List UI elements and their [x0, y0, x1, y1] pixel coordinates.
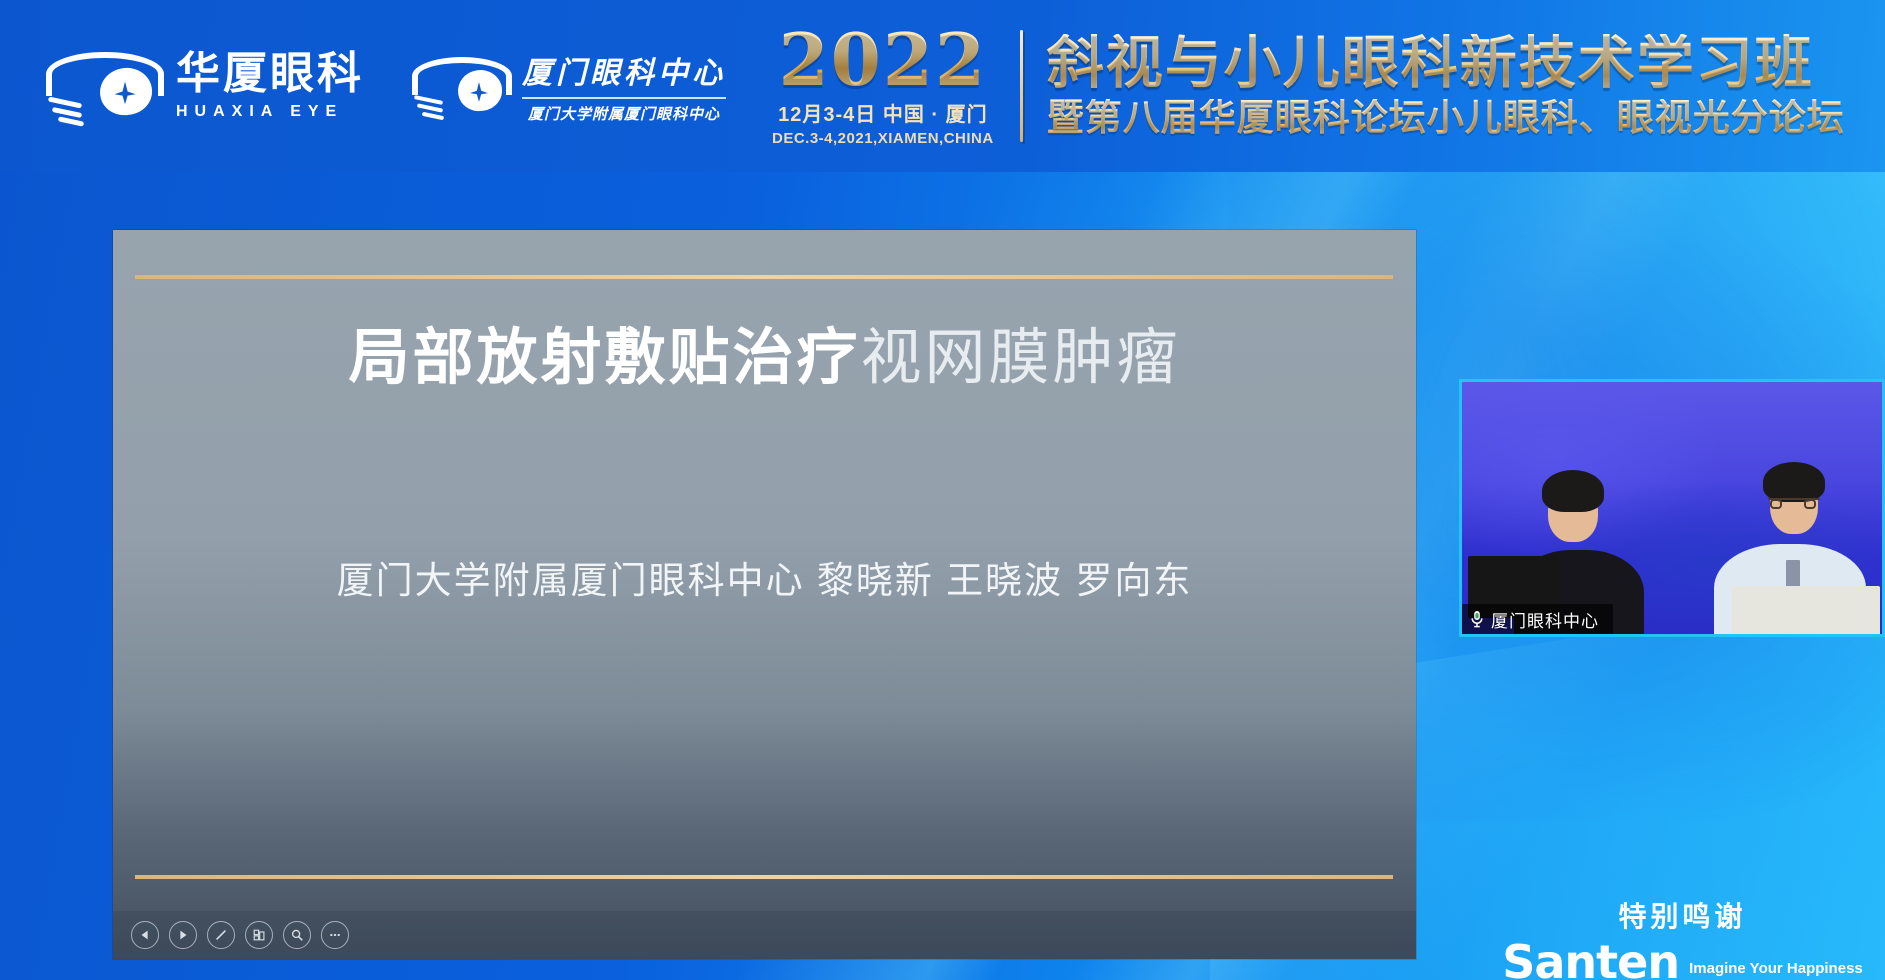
- participant-video-panel[interactable]: 厦门眼科中心: [1459, 379, 1885, 637]
- sponsor-thanks-text: 特别鸣谢: [1480, 895, 1885, 935]
- triangle-left-icon: [138, 928, 152, 942]
- layout-grid-icon: [252, 928, 266, 942]
- xmec-name-sub: 厦门大学附属厦门眼科中心: [522, 103, 726, 124]
- conference-title: 斜视与小儿眼科新技术学习班: [1047, 34, 1845, 93]
- conference-year: 2022: [772, 25, 994, 94]
- xmec-divider: [522, 97, 726, 99]
- glasses-icon: [1768, 498, 1820, 500]
- slide-title-highlight: 局部放射敷贴治疗: [348, 323, 860, 391]
- conference-year-block: 2022 12月3-4日 中国 · 厦门 DEC.3-4,2021,XIAMEN…: [772, 25, 994, 146]
- pen-icon: [214, 928, 228, 942]
- xiamen-eye-center-logo: 厦门眼科中心 厦门大学附属厦门眼科中心: [390, 48, 726, 124]
- broadcast-stage: 华厦眼科 HUAXIA EYE 厦门眼科中心 厦门大学附属厦门眼科中心 2022: [0, 0, 1885, 980]
- conference-date-cn: 12月3-4日 中国 · 厦门: [772, 98, 994, 127]
- presentation-slide[interactable]: 局部放射敷贴治疗视网膜肿瘤 厦门大学附属厦门眼科中心 黎晓新 王晓波 罗向东: [113, 230, 1416, 959]
- ellipsis-icon: [328, 928, 342, 942]
- sponsor-tagline: Imagine Your Happiness: [1689, 960, 1863, 980]
- participant-name-text: 厦门眼科中心: [1491, 607, 1599, 632]
- layout-button[interactable]: [245, 921, 273, 949]
- header-vertical-divider: [1020, 30, 1023, 142]
- slide-subtitle: 厦门大学附属厦门眼科中心 黎晓新 王晓波 罗向东: [113, 550, 1416, 604]
- triangle-right-icon: [176, 928, 190, 942]
- slide-rule-top: [135, 275, 1393, 279]
- huaxia-eye-wordmark: 华厦眼科 HUAXIA EYE: [176, 51, 364, 121]
- huaxia-eye-logo: 华厦眼科 HUAXIA EYE: [0, 48, 364, 124]
- sponsor-logo: Santen Imagine Your Happiness: [1480, 941, 1885, 980]
- huaxia-eye-name-cn: 华厦眼科: [176, 51, 364, 97]
- sponsor-block: 特别鸣谢 Santen Imagine Your Happiness: [1480, 895, 1885, 980]
- eye-logo-icon: [412, 53, 512, 119]
- previous-slide-button[interactable]: [131, 921, 159, 949]
- conference-subtitle: 暨第八届华厦眼科论坛小儿眼科、眼视光分论坛: [1047, 99, 1845, 138]
- magnifier-icon: [290, 928, 304, 942]
- zoom-button[interactable]: [283, 921, 311, 949]
- slide-title-normal: 视网膜肿瘤: [861, 323, 1181, 391]
- annotate-button[interactable]: [207, 921, 235, 949]
- slide-title: 局部放射敷贴治疗视网膜肿瘤: [113, 322, 1416, 394]
- more-options-button[interactable]: [321, 921, 349, 949]
- slide-toolbar: [113, 911, 1416, 959]
- next-slide-button[interactable]: [169, 921, 197, 949]
- participant-name-label: 厦门眼科中心: [1462, 604, 1613, 634]
- xmec-name-main: 厦门眼科中心: [522, 48, 726, 92]
- xiamen-eye-center-wordmark: 厦门眼科中心 厦门大学附属厦门眼科中心: [522, 48, 726, 124]
- huaxia-eye-name-en: HUAXIA EYE: [176, 103, 364, 121]
- conference-date-en: DEC.3-4,2021,XIAMEN,CHINA: [772, 130, 994, 147]
- sponsor-brand-name: Santen: [1502, 941, 1679, 980]
- eye-logo-icon: [46, 48, 164, 124]
- conference-title-block: 斜视与小儿眼科新技术学习班 暨第八届华厦眼科论坛小儿眼科、眼视光分论坛: [1047, 34, 1845, 138]
- slide-rule-bottom: [135, 875, 1393, 879]
- microphone-icon: [1470, 610, 1484, 628]
- conference-header: 华厦眼科 HUAXIA EYE 厦门眼科中心 厦门大学附属厦门眼科中心 2022: [0, 0, 1885, 172]
